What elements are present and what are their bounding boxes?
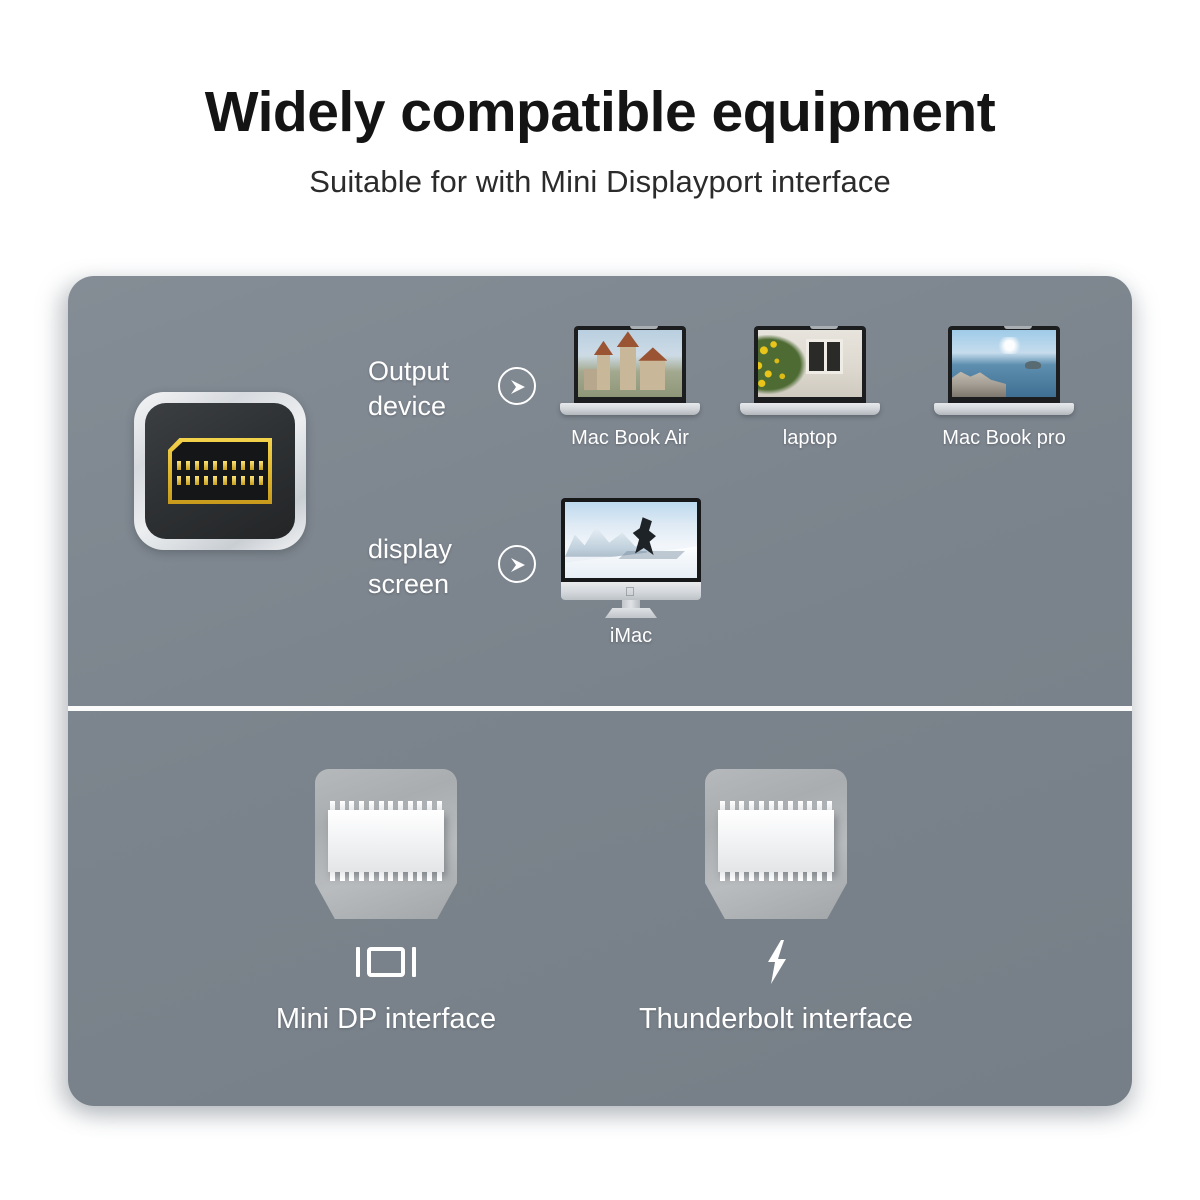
desktop-monitor-icon:  bbox=[556, 498, 706, 620]
circle-arrow-right-icon bbox=[498, 367, 536, 405]
pin-teeth-bottom bbox=[720, 872, 832, 881]
displayport-opening bbox=[168, 438, 272, 504]
pin-teeth-top bbox=[720, 801, 832, 810]
device-imac:  iMac bbox=[551, 498, 711, 648]
laptop-icon bbox=[560, 326, 700, 422]
laptop-hinge-notch bbox=[1004, 326, 1032, 329]
laptop-hinge-notch bbox=[810, 326, 838, 329]
screen-wallpaper-skier bbox=[565, 502, 697, 578]
laptop-screen bbox=[578, 330, 682, 397]
displayport-connector-icon bbox=[315, 769, 457, 919]
imac-bezel bbox=[561, 498, 701, 582]
pin-row-top bbox=[177, 461, 263, 470]
pin-row-bottom bbox=[177, 476, 263, 485]
connector-pin-block bbox=[328, 810, 444, 872]
laptop-base bbox=[740, 403, 880, 415]
laptop-icon bbox=[740, 326, 880, 422]
flow-label-line1: display bbox=[368, 532, 452, 567]
interface-thunderbolt: Thunderbolt interface bbox=[636, 769, 916, 1036]
displayport-connector-icon bbox=[705, 769, 847, 919]
circle-arrow-right-icon bbox=[498, 545, 536, 583]
imac-screen bbox=[565, 502, 697, 578]
pin-teeth-bottom bbox=[330, 872, 442, 881]
mini-displayport-connector-graphic bbox=[134, 392, 306, 550]
screen-wallpaper-castle bbox=[578, 330, 682, 397]
flow-label-line1: Output bbox=[368, 354, 449, 389]
laptop-icon bbox=[934, 326, 1074, 422]
imac-stand-foot bbox=[605, 608, 657, 618]
pin-teeth-top bbox=[330, 801, 442, 810]
interface-caption: Thunderbolt interface bbox=[636, 1003, 916, 1036]
screen-wallpaper-window-flowers bbox=[758, 330, 862, 397]
thunderbolt-bolt-icon bbox=[636, 935, 916, 989]
device-caption: Mac Book pro bbox=[920, 427, 1088, 450]
apple-logo-icon:  bbox=[625, 585, 635, 598]
flow-label-output-device: Output device bbox=[368, 354, 449, 423]
laptop-base bbox=[934, 403, 1074, 415]
page-title: Widely compatible equipment bbox=[0, 0, 1200, 146]
connector-pin-block bbox=[718, 810, 834, 872]
interfaces-section: Mini DP interface bbox=[68, 711, 1132, 1106]
device-laptop: laptop bbox=[740, 326, 880, 450]
laptop-lid bbox=[948, 326, 1060, 404]
screen-wallpaper-coast bbox=[952, 330, 1056, 397]
laptop-lid bbox=[574, 326, 686, 404]
laptop-lid bbox=[754, 326, 866, 404]
device-mac-book-pro: Mac Book pro bbox=[920, 326, 1088, 450]
mini-dp-glyph-icon bbox=[246, 935, 526, 989]
compatibility-panel: Output device bbox=[68, 276, 1132, 1106]
device-caption: Mac Book Air bbox=[550, 427, 710, 450]
laptop-hinge-notch bbox=[630, 326, 658, 329]
connector-body bbox=[145, 403, 295, 539]
displayport-cavity bbox=[172, 442, 268, 500]
laptop-screen bbox=[952, 330, 1056, 397]
device-mac-book-air: Mac Book Air bbox=[550, 326, 710, 450]
device-caption: laptop bbox=[740, 427, 880, 450]
flow-label-line2: screen bbox=[368, 567, 452, 602]
compatible-devices-section: Output device bbox=[68, 276, 1132, 706]
laptop-screen bbox=[758, 330, 862, 397]
laptop-base bbox=[560, 403, 700, 415]
flow-label-line2: device bbox=[368, 389, 449, 424]
interface-mini-dp: Mini DP interface bbox=[246, 769, 526, 1036]
interface-caption: Mini DP interface bbox=[246, 1003, 526, 1036]
flow-label-display-screen: display screen bbox=[368, 532, 452, 601]
device-caption: iMac bbox=[551, 625, 711, 648]
page-header: Widely compatible equipment Suitable for… bbox=[0, 0, 1200, 200]
page-subtitle: Suitable for with Mini Displayport inter… bbox=[0, 146, 1200, 200]
